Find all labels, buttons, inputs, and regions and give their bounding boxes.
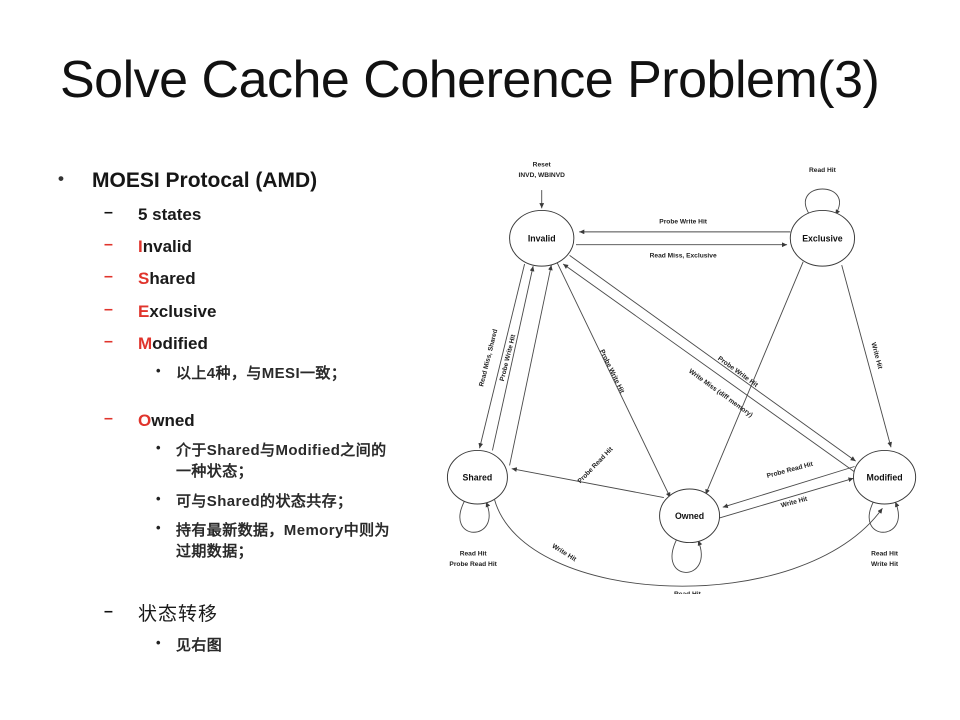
bullet-see-right-figure-label: 见右图: [176, 637, 222, 654]
edge-owned-to-shared-crossing: Probe Read Hit: [512, 445, 664, 497]
edge-owned-to-modified: Write Hit: [720, 478, 854, 518]
bullet-see-right-figure: • 见右图: [46, 635, 436, 656]
state-rest-letters: nvalid: [143, 237, 192, 256]
self-loop-label-modified-read-hit: Read Hit: [871, 550, 899, 557]
bullet-state-transition: – 状态转移: [46, 603, 436, 628]
bullet-owned-note-1-line2: 一种状态；: [176, 463, 253, 480]
edge-exclusive-to-modified: Write Hit: [842, 265, 891, 447]
node-shared[interactable]: Shared: [447, 450, 507, 504]
edge-label-probe-read-hit-center: Probe Read Hit: [577, 445, 616, 485]
bullet-5-states-label: 5 states: [138, 205, 201, 224]
edge-reset-to-invalid: Reset INVD, WBINVD: [519, 162, 566, 209]
edge-label-probe-write-hit-right: Probe Write Hit: [716, 355, 759, 389]
bullet-marker-dash: –: [104, 602, 114, 623]
edge-invalid-to-shared: Read Miss, Shared: [478, 264, 524, 448]
self-loop-modified: Read Hit Write Hit: [869, 501, 899, 568]
bullet-marker-dot: •: [156, 490, 161, 508]
node-label-invalid: Invalid: [528, 234, 556, 244]
edge-exclusive-to-invalid: Probe Write Hit: [579, 218, 790, 232]
node-modified[interactable]: Modified: [854, 450, 916, 504]
node-exclusive[interactable]: Exclusive: [790, 210, 854, 266]
bullet-marker-dot: •: [156, 519, 161, 537]
bullet-state-exclusive: – Exclusive: [46, 301, 436, 323]
self-loop-exclusive: Read Hit: [805, 167, 839, 215]
bullet-owned-note-2: • 可与Shared的状态共存；: [46, 491, 436, 512]
edge-label-probe-write-hit-top: Probe Write Hit: [659, 218, 708, 225]
node-label-owned: Owned: [675, 511, 704, 521]
node-label-modified: Modified: [867, 472, 903, 482]
node-owned[interactable]: Owned: [660, 489, 720, 543]
spacer: [46, 563, 436, 593]
edge-label-reset: Reset: [533, 162, 552, 169]
state-rest-letters: hared: [149, 269, 195, 288]
bullet-5-states: – 5 states: [46, 204, 436, 226]
bullet-state-modified: – Modified: [46, 333, 436, 355]
edge-invalid-to-owned: Probe Write Hit: [557, 262, 671, 498]
node-label-shared: Shared: [463, 472, 493, 482]
bullet-list: • MOESI Protocal (AMD) – 5 states – Inva…: [46, 168, 436, 657]
state-initial-letter: E: [138, 302, 149, 321]
bullet-marker-dash: –: [104, 409, 113, 430]
bullet-state-shared: – Shared: [46, 268, 436, 290]
spacer: [46, 384, 436, 400]
edge-label-read-miss-exclusive: Read Miss, Exclusive: [650, 253, 717, 260]
node-label-exclusive: Exclusive: [802, 234, 843, 244]
state-initial-letter: S: [138, 269, 149, 288]
bullet-owned-note-3-line1: 持有最新数据，Memory中则为: [176, 522, 390, 539]
bullet-marker-dash: –: [104, 267, 113, 288]
page-title: Solve Cache Coherence Problem(3): [60, 52, 920, 108]
bullet-owned-note-1-line1: 介于Shared与Modified之间的: [176, 442, 387, 459]
bullet-note-four-states-label: 以上4种，与MESI一致；: [176, 365, 346, 382]
edge-shared-to-invalid-diagonal: [510, 265, 552, 465]
self-loop-label-shared-read-hit: Read Hit: [460, 550, 488, 557]
edge-label-write-hit-right: Write Hit: [869, 342, 883, 371]
bullet-marker-dash: –: [104, 332, 113, 353]
edge-shared-to-invalid: Probe Write Hit: [492, 266, 533, 450]
edge-exclusive-to-owned: [706, 262, 804, 495]
bullet-marker-dot: •: [156, 362, 161, 380]
bullet-owned-note-1: • 介于Shared与Modified之间的 一种状态；: [46, 440, 436, 483]
bullet-marker-dot: •: [156, 439, 161, 457]
state-initial-letter: M: [138, 334, 152, 353]
state-rest-letters: wned: [151, 411, 194, 430]
self-loop-shared: Read Hit Probe Read Hit: [449, 501, 497, 568]
edge-label-invd-wbinvd: INVD, WBINVD: [519, 172, 566, 179]
bullet-owned-note-2-label: 可与Shared的状态共存；: [176, 493, 352, 510]
moesi-state-diagram: Reset INVD, WBINVD Probe Write Hit Read …: [446, 144, 946, 594]
self-loop-label-modified-write-hit: Write Hit: [871, 561, 899, 568]
bullet-marker-dash: –: [104, 300, 113, 321]
bullet-owned-note-3: • 持有最新数据，Memory中则为 过期数据；: [46, 520, 436, 563]
bullet-state-transition-label: 状态转移: [138, 604, 218, 625]
node-invalid[interactable]: Invalid: [510, 210, 574, 266]
state-rest-letters: odified: [152, 334, 208, 353]
bullet-marker-dot: •: [58, 168, 64, 189]
edge-invalid-to-modified: Probe Write Hit: [570, 255, 856, 461]
edge-label-probe-write-hit-center: Probe Write Hit: [598, 349, 626, 396]
bullet-owned-note-3-line2: 过期数据；: [176, 543, 253, 560]
self-loop-label-owned-read-hit: Read Hit: [674, 591, 702, 594]
state-initial-letter: O: [138, 411, 151, 430]
bullet-marker-dash: –: [104, 203, 113, 224]
edge-label-probe-read-hit-om: Probe Read Hit: [766, 461, 814, 480]
edge-invalid-to-exclusive: Read Miss, Exclusive: [576, 245, 787, 260]
bullet-marker-dot: •: [156, 634, 161, 652]
bullet-marker-dash: –: [104, 235, 113, 256]
bullet-moesi-protocol-label: MOESI Protocal (AMD): [92, 169, 317, 192]
bullet-state-owned: – Owned: [46, 410, 436, 432]
bullet-state-invalid: – Invalid: [46, 236, 436, 258]
self-loop-label-exclusive-read-hit: Read Hit: [809, 167, 837, 174]
edge-label-write-hit-mo: Write Hit: [780, 495, 809, 509]
self-loop-label-shared-probe-read-hit: Probe Read Hit: [449, 561, 497, 568]
state-rest-letters: xclusive: [149, 302, 216, 321]
bullet-note-four-states: • 以上4种，与MESI一致；: [46, 363, 436, 384]
bullet-moesi-protocol: • MOESI Protocal (AMD): [46, 168, 436, 194]
